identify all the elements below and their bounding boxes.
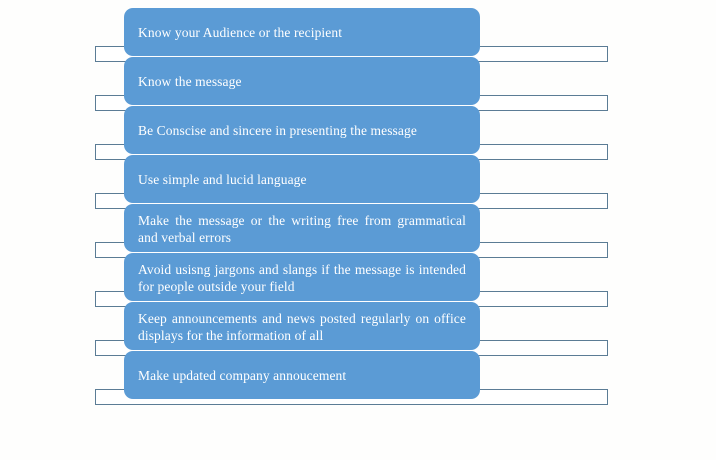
list-item[interactable]: Use simple and lucid language xyxy=(0,147,716,196)
list-item-label: Know the message xyxy=(124,73,480,90)
list-item-label: Be Conscise and sincere in presenting th… xyxy=(124,122,480,139)
list-item[interactable]: Make the message or the writing free fro… xyxy=(0,196,716,245)
list-item[interactable]: Know the message xyxy=(0,49,716,98)
list-item-label: Avoid usisng jargons and slangs if the m… xyxy=(124,260,480,295)
list-item-label: Keep announcements and news posted regul… xyxy=(124,309,480,344)
list-item-label: Know your Audience or the recipient xyxy=(124,24,480,41)
list-item[interactable]: Know your Audience or the recipient xyxy=(0,0,716,49)
list-item[interactable]: Keep announcements and news posted regul… xyxy=(0,294,716,343)
list-item[interactable]: Avoid usisng jargons and slangs if the m… xyxy=(0,245,716,294)
list-item-chip[interactable]: Make updated company annoucement xyxy=(124,351,480,399)
list-item-label: Make updated company annoucement xyxy=(124,367,480,384)
smartart-diagram: Know your Audience or the recipient Know… xyxy=(0,0,716,460)
list-item-label: Make the message or the writing free fro… xyxy=(124,211,480,246)
list-item-label: Use simple and lucid language xyxy=(124,171,480,188)
list-item[interactable]: Be Conscise and sincere in presenting th… xyxy=(0,98,716,147)
list-item[interactable]: Make updated company annoucement xyxy=(0,343,716,392)
